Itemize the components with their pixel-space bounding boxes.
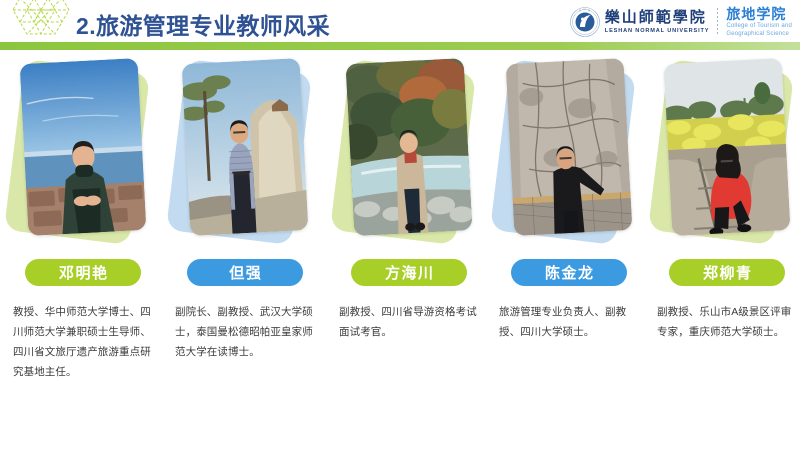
logo-lockup: 乐山师 樂山師範學院 LESHAN NORMAL UNIVERSITY 旅地学院… (570, 5, 792, 39)
teacher-photo-mountain (182, 58, 309, 236)
photo-frame (652, 58, 800, 253)
photo-frame (8, 58, 158, 253)
university-seal-icon: 乐山师 (570, 7, 600, 37)
university-name-cn: 樂山師範學院 (605, 10, 710, 27)
teacher-card: 但强 副院长、副教授、武汉大学硕士，泰国曼松德昭帕亚皇家师范大学在读博士。 (170, 58, 320, 438)
slide-root: 2.旅游管理专业教师风采 乐山师 樂山師範學院 LESHAN NORMAL UN… (0, 0, 800, 450)
teacher-bio: 副院长、副教授、武汉大学硕士，泰国曼松德昭帕亚皇家师范大学在读博士。 (175, 302, 322, 362)
photo-frame (170, 58, 320, 253)
teacher-name-badge: 但强 (187, 259, 303, 286)
teacher-card: 邓明艳 教授、华中师范大学博士、四川师范大学兼职硕士生导师、四川省文旅厅遗产旅游… (8, 58, 158, 438)
teacher-card: 方海川 副教授、四川省导游资格考试面试考官。 (334, 58, 484, 438)
photo-frame (494, 58, 644, 253)
teacher-photo-riverside (346, 58, 473, 236)
teacher-bio: 副教授、四川省导游资格考试面试考官。 (339, 302, 486, 342)
photo-frame (334, 58, 484, 253)
university-name-en: LESHAN NORMAL UNIVERSITY (605, 27, 710, 35)
teacher-photo-railway (664, 58, 791, 236)
college-name-en-line1: College of Tourism and (726, 22, 792, 30)
logo-divider (717, 8, 718, 36)
college-name-cn: 旅地学院 (726, 7, 792, 22)
teacher-photo-seaside (20, 58, 147, 236)
teacher-card: 郑柳青 副教授、乐山市A级景区评审专家，重庆师范大学硕士。 (652, 58, 800, 438)
svg-text:师: 师 (588, 9, 590, 13)
svg-text:乐: 乐 (579, 9, 581, 13)
college-name-block: 旅地学院 College of Tourism and Geographical… (726, 7, 792, 38)
teacher-name-badge: 陈金龙 (511, 259, 627, 286)
header-rule (0, 42, 800, 50)
college-name-en-line2: Geographical Science (726, 30, 792, 38)
teacher-bio: 旅游管理专业负责人、副教授、四川大学硕士。 (499, 302, 646, 342)
teacher-name-badge: 方海川 (351, 259, 467, 286)
university-name-block: 樂山師範學院 LESHAN NORMAL UNIVERSITY (605, 10, 718, 35)
teacher-card-row: 邓明艳 教授、华中师范大学博士、四川师范大学兼职硕士生导师、四川省文旅厅遗产旅游… (0, 58, 800, 438)
hexagon-pattern-icon (6, 0, 86, 46)
page-title: 2.旅游管理专业教师风采 (76, 7, 330, 41)
teacher-bio: 教授、华中师范大学博士、四川师范大学兼职硕士生导师、四川省文旅厅遗产旅游重点研究… (13, 302, 160, 382)
teacher-card: 陈金龙 旅游管理专业负责人、副教授、四川大学硕士。 (494, 58, 644, 438)
teacher-photo-cliff (506, 58, 633, 236)
teacher-name-badge: 邓明艳 (25, 259, 141, 286)
teacher-bio: 副教授、乐山市A级景区评审专家，重庆师范大学硕士。 (657, 302, 799, 342)
teacher-name-badge: 郑柳青 (669, 259, 785, 286)
